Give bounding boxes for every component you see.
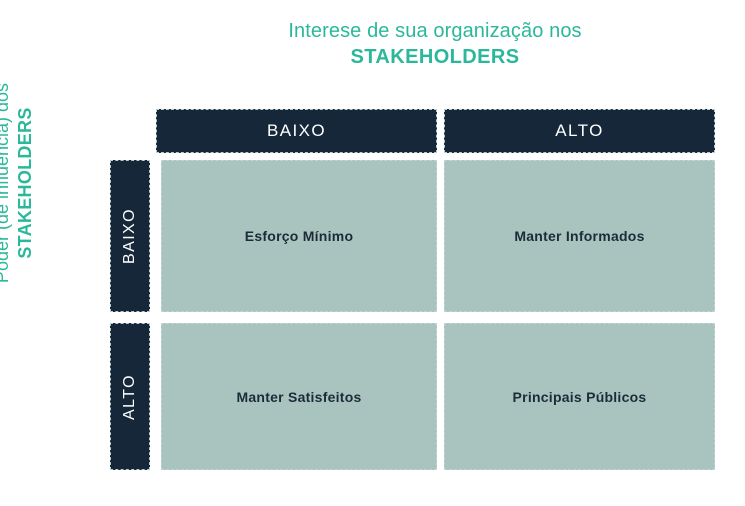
quadrant-manter-informados: Manter Informados: [444, 160, 715, 312]
top-axis-title: Interese de sua organização nos STAKEHOL…: [155, 18, 715, 71]
row-header-alto: ALTO: [110, 323, 150, 470]
top-axis-title-line1: Interese de sua organização nos: [155, 18, 715, 44]
row-header-alto-label: ALTO: [121, 374, 139, 420]
left-axis-title-line1: Poder (de influência) dos: [0, 83, 14, 283]
left-axis-title-line2: STAKEHOLDERS: [14, 107, 37, 258]
quadrant-principais-publicos: Principais Públicos: [444, 323, 715, 470]
column-header-baixo: BAIXO: [156, 109, 437, 153]
quadrant-esforco-minimo: Esforço Mínimo: [161, 160, 437, 312]
stakeholder-matrix-canvas: Interese de sua organização nos STAKEHOL…: [0, 0, 745, 506]
row-header-baixo-label: BAIXO: [121, 208, 139, 264]
top-axis-title-line2: STAKEHOLDERS: [155, 44, 715, 70]
row-header-baixo: BAIXO: [110, 160, 150, 312]
column-header-alto: ALTO: [444, 109, 715, 153]
quadrant-manter-satisfeitos: Manter Satisfeitos: [161, 323, 437, 470]
left-axis-title: Poder (de influência) dos STAKEHOLDERS: [0, 27, 37, 339]
